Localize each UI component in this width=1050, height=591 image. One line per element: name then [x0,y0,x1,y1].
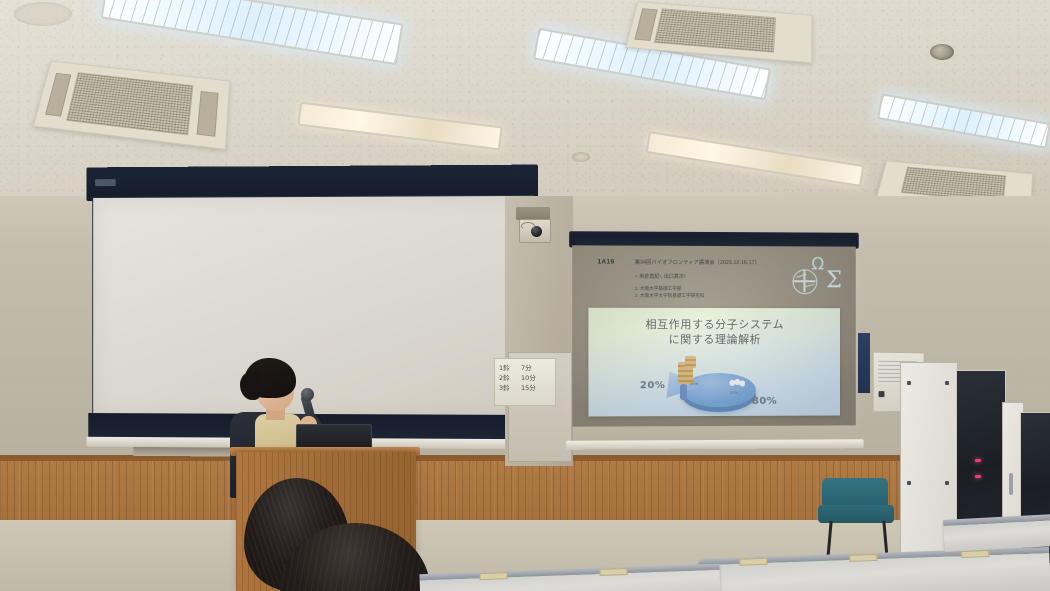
pie-inner-label-right: 20% [730,390,738,395]
camera-cable [521,222,535,230]
slide-conference-title: 第34回バイオフロンティア講演会（2023.12.16-17） [635,259,760,266]
bell-time-3: 15分 [521,384,536,392]
bell-time-1: 7分 [521,364,532,372]
pie-label-right: 80% [752,396,777,407]
bell-time-2: 10分 [521,374,536,382]
slide-title-line2: に関する理論解析 [588,333,840,348]
recessed-downlight-1 [930,44,954,60]
lecture-desk-far-right [943,517,1050,552]
sigma-glyph-icon: Σ [826,269,842,292]
slide-content-panel: 相互作用する分子システム に関する理論解析 20% 80% 20% 20% [588,308,840,417]
slide-title: 相互作用する分子システム に関する理論解析 [588,318,840,348]
pie-inner-label-left: 20% [690,381,698,386]
right-projection-screen: 1A19 第34回バイオフロンティア講演会（2023.12.16-17） ○ 米… [569,231,859,443]
bell-row: 2鈴10分 [499,373,555,383]
omega-glyph-icon: Ω [811,256,824,273]
slide-affiliations: 1. 大阪大学基礎工学部 2. 大阪大学大学院基礎工学研究科 [635,286,705,300]
bell-label-3: 3鈴 [499,383,521,393]
affiliation-1: 1. 大阪大学基礎工学部 [635,286,705,293]
bell-label-2: 2鈴 [499,373,521,383]
pie-chart-graphic: 20% 80% 20% 20% [644,368,794,414]
blue-wall-panel [858,333,870,393]
slide-authors: ○ 米倉直紀¹, 出口真次² [635,273,686,280]
smoke-detector-icon [572,152,590,162]
figure-icon [680,384,687,400]
lab-logo: Ω Σ [791,256,842,296]
screen-brand-badge [95,179,116,186]
coin-stack-small-icon [685,356,696,368]
bell-label-1: 1鈴 [499,363,521,373]
bell-row: 1鈴7分 [499,363,555,373]
bell-timing-sign: 1鈴7分 2鈴10分 3鈴15分 [494,358,556,406]
affiliation-2: 2. 大阪大学大学院基礎工学研究科 [635,292,705,299]
presenter-hair-side [240,372,262,400]
right-screen-weight-bar [566,439,864,450]
lecture-hall-photo: 1鈴7分 2鈴10分 3鈴15分 1A19 第34回バイオフロンティア講演会（2… [0,0,1050,591]
chair-backrest[interactable] [822,478,888,508]
ceiling-vent-corner [14,2,72,26]
projected-slide: 1A19 第34回バイオフロンティア講演会（2023.12.16-17） ○ 米… [572,245,856,426]
slide-title-line1: 相互作用する分子システム [645,318,784,331]
people-group-icon [728,378,745,388]
bell-row: 3鈴15分 [499,383,555,393]
pie-label-left: 20% [640,380,666,391]
slide-session-id: 1A19 [597,259,614,266]
microphone-icon [301,388,314,401]
sign-fastener [879,391,885,397]
